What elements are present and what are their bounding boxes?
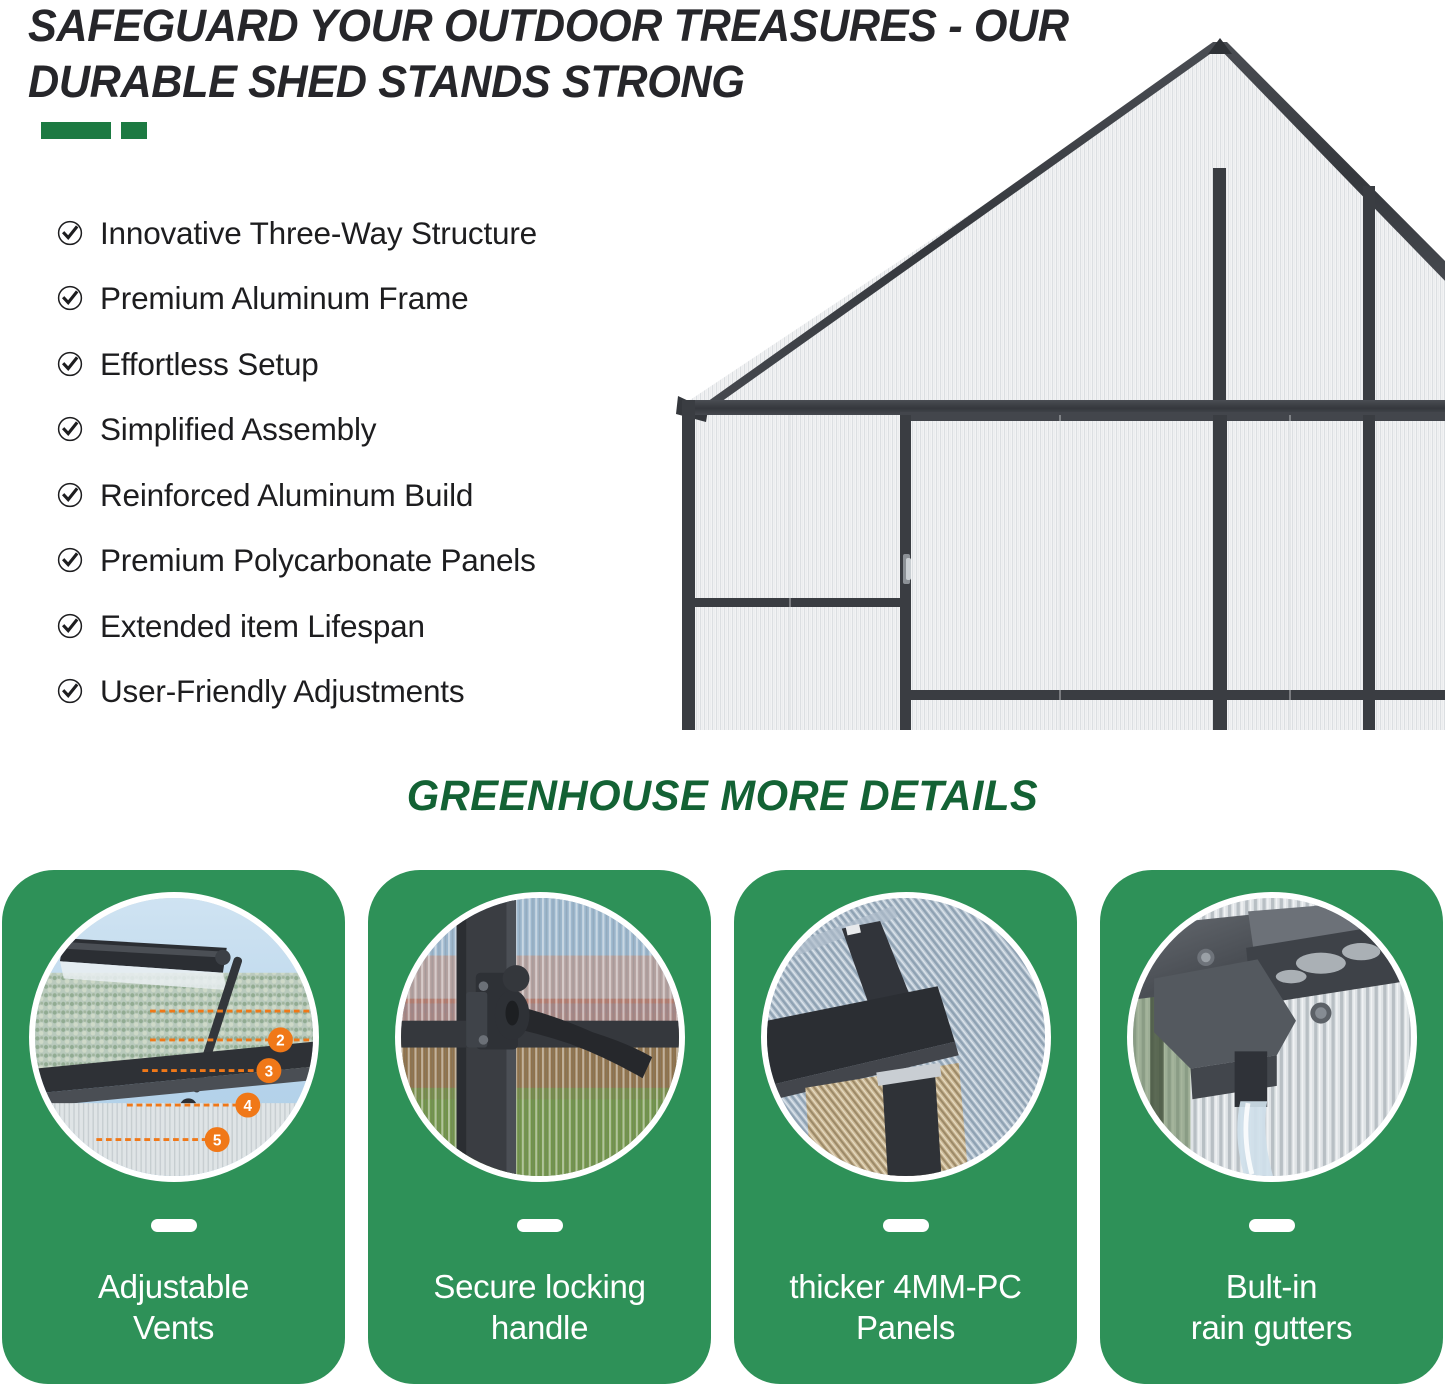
list-item-label: Simplified Assembly [100, 411, 376, 447]
detail-card-adjustable-vents[interactable]: 2 3 4 5 Adjustable Vents [2, 870, 345, 1384]
check-circle-icon [57, 547, 83, 573]
list-item-label: Premium Aluminum Frame [100, 280, 468, 316]
svg-text:2: 2 [276, 1033, 285, 1050]
polycarbonate-panels-photo [761, 892, 1051, 1182]
svg-text:5: 5 [212, 1132, 221, 1149]
card-caption: Adjustable Vents [2, 1266, 345, 1348]
list-item-label: User-Friendly Adjustments [100, 673, 464, 709]
door-handle [903, 554, 911, 584]
card-divider-pill [1249, 1219, 1295, 1232]
card-caption: Bult-in rain gutters [1100, 1266, 1443, 1348]
check-circle-icon [57, 482, 83, 508]
detail-card-rain-gutters[interactable]: Bult-in rain gutters [1100, 870, 1443, 1384]
rain-gutter-photo [1127, 892, 1417, 1182]
check-circle-icon [57, 351, 83, 377]
card-divider-pill [883, 1219, 929, 1232]
check-circle-icon [57, 416, 83, 442]
card-caption: Secure locking handle [368, 1266, 711, 1348]
list-item: Premium Polycarbonate Panels [57, 528, 697, 594]
svg-text:3: 3 [264, 1063, 273, 1080]
card-divider-pill [151, 1219, 197, 1232]
list-item-label: Extended item Lifespan [100, 608, 425, 644]
check-circle-icon [57, 613, 83, 639]
list-item-label: Effortless Setup [100, 346, 319, 382]
roof-vent-photo: 2 3 4 5 [29, 892, 319, 1182]
feature-list: Innovative Three-Way Structure Premium A… [57, 200, 697, 724]
accent-bars [41, 122, 147, 139]
list-item: User-Friendly Adjustments [57, 659, 697, 725]
list-item: Innovative Three-Way Structure [57, 200, 697, 266]
list-item-label: Innovative Three-Way Structure [100, 215, 537, 251]
card-caption: thicker 4MM-PC Panels [734, 1266, 1077, 1348]
locking-handle-photo [395, 892, 685, 1182]
list-item-label: Premium Polycarbonate Panels [100, 542, 536, 578]
list-item: Effortless Setup [57, 331, 697, 397]
accent-bar-long [41, 122, 111, 139]
list-item: Simplified Assembly [57, 397, 697, 463]
check-circle-icon [57, 220, 83, 246]
detail-card-pc-panels[interactable]: thicker 4MM-PC Panels [734, 870, 1077, 1384]
svg-text:4: 4 [243, 1098, 252, 1115]
list-item: Reinforced Aluminum Build [57, 462, 697, 528]
list-item: Extended item Lifespan [57, 593, 697, 659]
accent-bar-short [121, 122, 147, 139]
list-item-label: Reinforced Aluminum Build [100, 477, 473, 513]
card-divider-pill [517, 1219, 563, 1232]
detail-cards: 2 3 4 5 Adjustable Vents [0, 870, 1445, 1384]
section-heading: GREENHOUSE MORE DETAILS [22, 772, 1424, 821]
check-circle-icon [57, 285, 83, 311]
greenhouse-illustration [660, 18, 1445, 734]
check-circle-icon [57, 678, 83, 704]
detail-card-secure-locking-handle[interactable]: Secure locking handle [368, 870, 711, 1384]
list-item: Premium Aluminum Frame [57, 266, 697, 332]
